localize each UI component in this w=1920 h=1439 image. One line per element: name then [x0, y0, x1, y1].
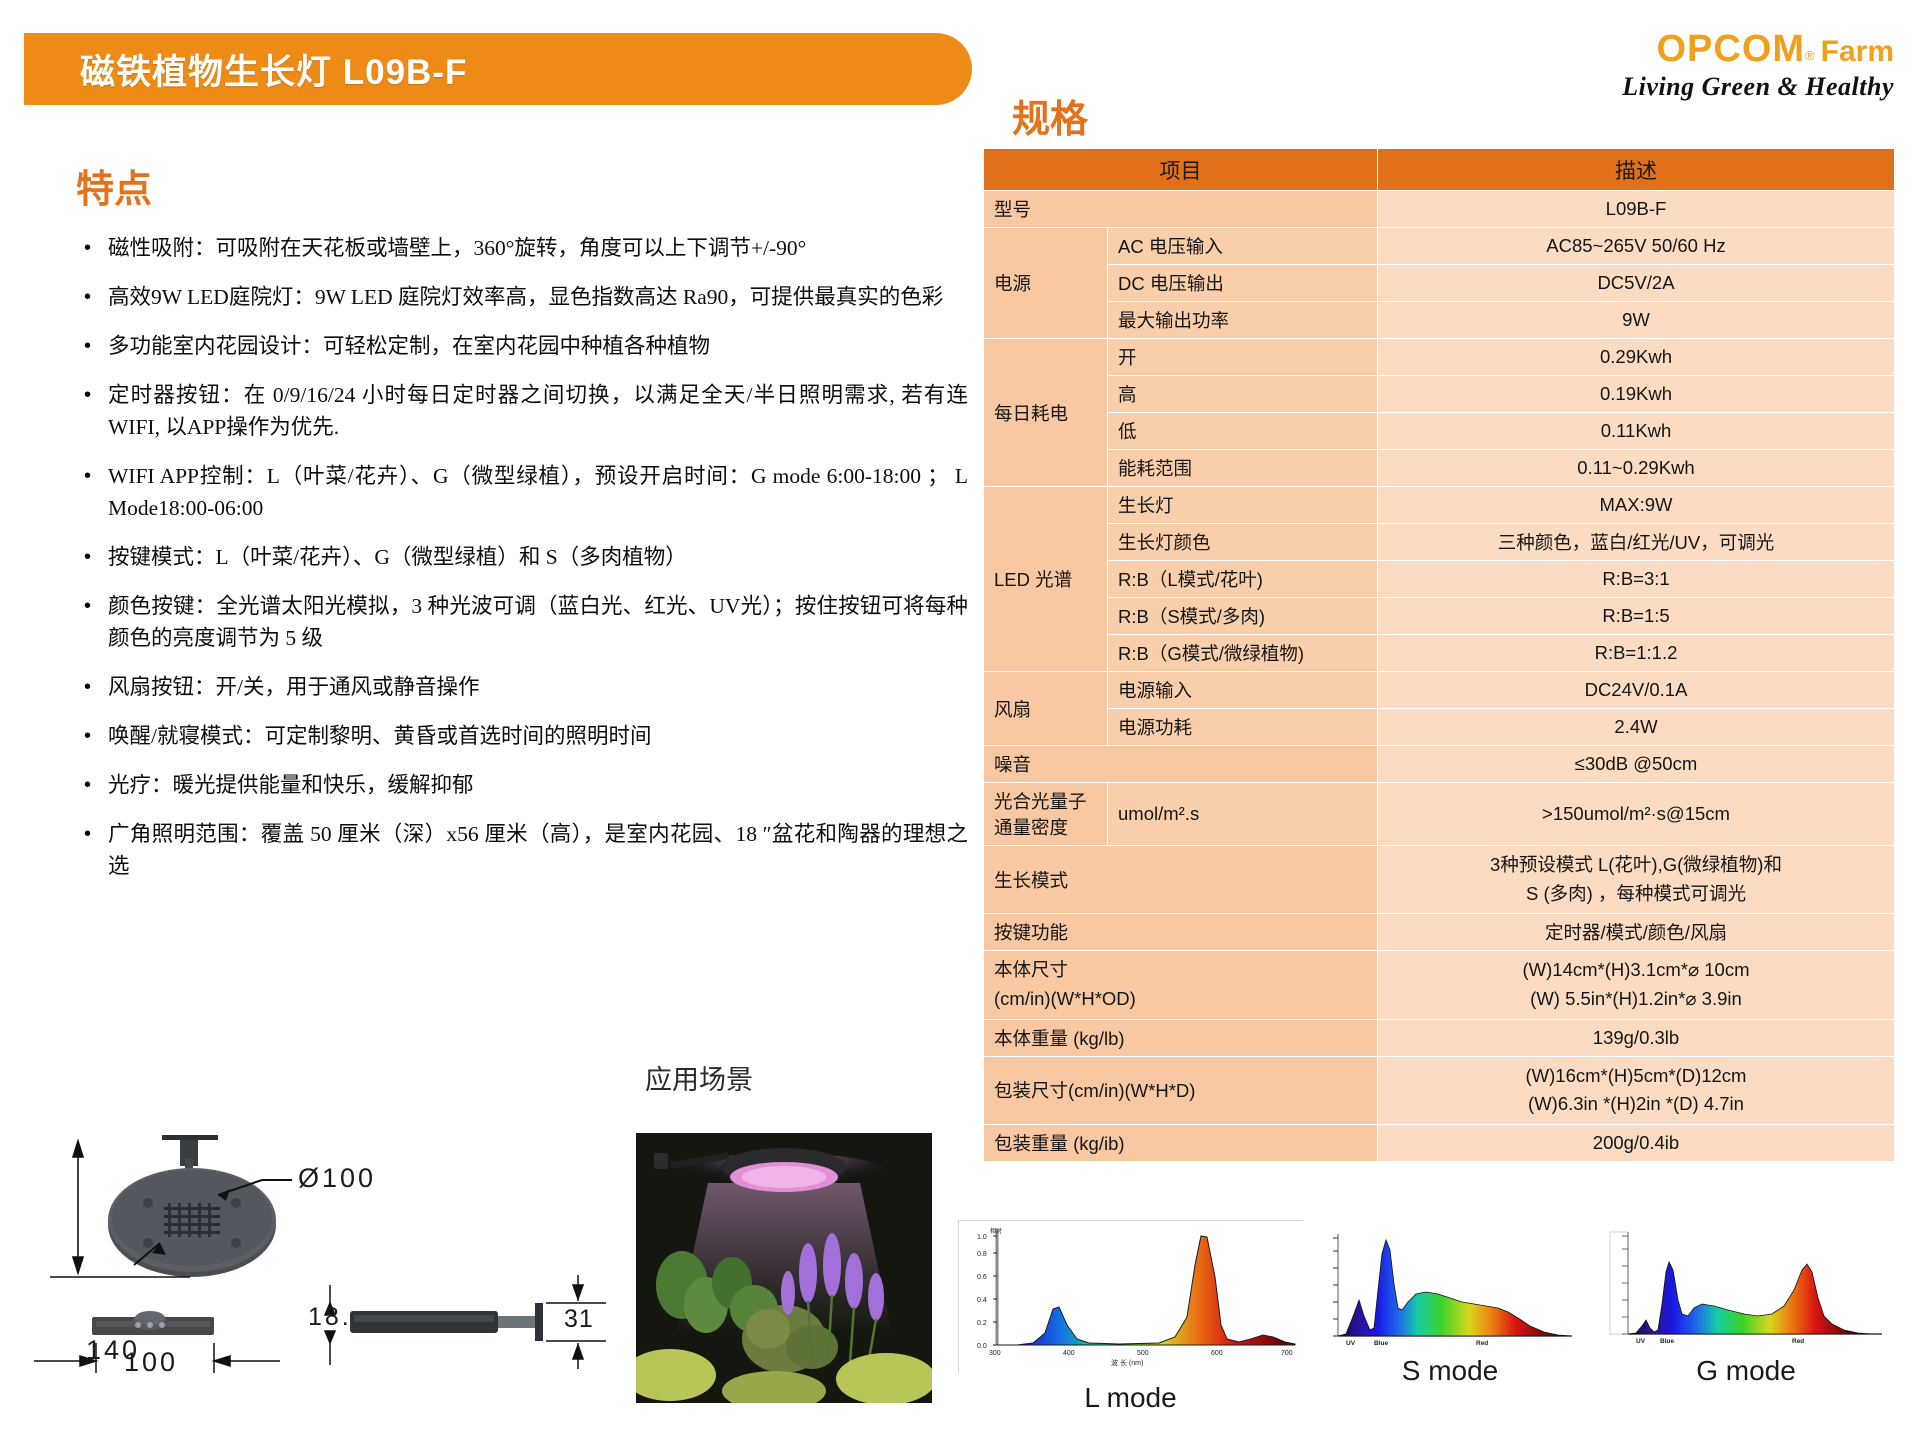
spec-value-cell: DC5V/2A [1378, 265, 1895, 302]
spec-value-cell: R:B=1:1.2 [1378, 635, 1895, 672]
feature-item-text: 广角照明范围：覆盖 50 厘米（深）x56 厘米（高），是室内花园、18 ″盆花… [108, 818, 968, 882]
spec-value-cell: 3种预设模式 L(花叶),G(微绿植物)和S (多肉) ，每种模式可调光 [1378, 846, 1895, 914]
spec-value-cell: MAX:9W [1378, 487, 1895, 524]
spectrum-chart-l-mode: 0.0 0.2 0.4 0.6 0.8 1.0 300 400 500 600 … [958, 1220, 1303, 1373]
table-header-row: 项目 描述 [984, 149, 1895, 191]
svg-text:500: 500 [1137, 1350, 1149, 1357]
spec-value-cell: 0.29Kwh [1378, 339, 1895, 376]
bullet-icon: • [78, 330, 108, 362]
table-row: 电源AC 电压输入AC85~265V 50/60 Hz [984, 228, 1895, 265]
spec-value-cell: 0.19Kwh [1378, 376, 1895, 413]
datasheet-page: 磁铁植物生长灯 L09B-F OPCOM®Farm Living Green &… [0, 0, 1920, 1439]
lamp-top-view [108, 1135, 292, 1277]
table-row: 生长模式3种预设模式 L(花叶),G(微绿植物)和S (多肉) ，每种模式可调光 [984, 846, 1895, 914]
feature-item: •风扇按钮：开/关，用于通风或静音操作 [78, 671, 968, 703]
spec-value-cell: 定时器/模式/颜色/风扇 [1378, 914, 1895, 951]
spec-sublabel-cell: 开 [1108, 339, 1378, 376]
application-scenario-heading: 应用场景 [645, 1058, 753, 1097]
spec-sublabel-cell: 电源功耗 [1108, 709, 1378, 746]
table-row: 电源功耗2.4W [984, 709, 1895, 746]
feature-item-text: 颜色按键：全光谱太阳光模拟，3 种光波可调（蓝白光、红光、UV光）；按住按钮可将… [108, 590, 968, 654]
spec-value-cell: (W)16cm*(H)5cm*(D)12cm(W)6.3in *(H)2in *… [1378, 1056, 1895, 1124]
table-row: 包装重量 (kg/ib)200g/0.4ib [984, 1125, 1895, 1162]
logo-opcom-text: OPCOM [1656, 28, 1805, 70]
spec-sublabel-cell: DC 电压输出 [1108, 265, 1378, 302]
table-row: 最大输出功率9W [984, 302, 1895, 339]
g-mode-chart-label: G mode [1596, 1355, 1896, 1387]
bullet-icon: • [78, 769, 108, 801]
logo-wordmark: OPCOM®Farm [1622, 28, 1894, 71]
spec-label-cell: 包装重量 (kg/ib) [984, 1125, 1378, 1162]
feature-item: •颜色按键：全光谱太阳光模拟，3 种光波可调（蓝白光、红光、UV光）；按住按钮可… [78, 590, 968, 654]
g-mode-plot: UV Blue Red [1596, 1228, 1896, 1358]
bullet-icon: • [78, 281, 108, 313]
column-header-description: 描述 [1378, 149, 1895, 191]
spectrum-chart-g-mode: UV Blue Red [1596, 1228, 1896, 1358]
logo-farm-text: Farm [1821, 35, 1894, 68]
svg-text:UV: UV [1346, 1340, 1356, 1347]
dimension-label-diameter: Ø100 [298, 1163, 376, 1194]
spec-sublabel-cell: 低 [1108, 413, 1378, 450]
spec-value-cell: >150umol/m²·s@15cm [1378, 783, 1895, 846]
feature-item-text: 光疗：暖光提供能量和快乐，缓解抑郁 [108, 769, 968, 801]
spec-label-cell: 风扇 [984, 672, 1108, 746]
svg-text:Blue: Blue [1660, 1338, 1674, 1345]
bullet-icon: • [78, 460, 108, 524]
bullet-icon: • [78, 818, 108, 882]
feature-item-text: WIFI APP控制：L（叶菜/花卉）、G（微型绿植），预设开启时间：G mod… [108, 460, 968, 524]
spec-label-cell: 生长模式 [984, 846, 1378, 914]
brand-logo: OPCOM®Farm Living Green & Healthy [1622, 28, 1894, 102]
feature-item: •光疗：暖光提供能量和快乐，缓解抑郁 [78, 769, 968, 801]
svg-text:0.0: 0.0 [977, 1343, 987, 1350]
svg-text:UV: UV [1636, 1338, 1646, 1345]
svg-text:700: 700 [1281, 1350, 1293, 1357]
spec-value-cell: 200g/0.4ib [1378, 1125, 1895, 1162]
spec-label-cell: 每日耗电 [984, 339, 1108, 487]
svg-text:0.2: 0.2 [977, 1320, 987, 1327]
spec-label-cell: 噪音 [984, 746, 1378, 783]
svg-text:1.0: 1.0 [977, 1234, 987, 1241]
feature-item: •定时器按钮：在 0/9/16/24 小时每日定时器之间切换，以满足全天/半日照… [78, 379, 968, 443]
table-row: 本体尺寸(cm/in)(W*H*OD)(W)14cm*(H)3.1cm*⌀ 10… [984, 951, 1895, 1019]
table-row: 低0.11Kwh [984, 413, 1895, 450]
feature-item-text: 高效9W LED庭院灯：9W LED 庭院灯效率高，显色指数高达 Ra90，可提… [108, 281, 968, 313]
spec-label-cell: LED 光谱 [984, 487, 1108, 672]
spec-label-cell: 本体尺寸(cm/in)(W*H*OD) [984, 951, 1378, 1019]
spec-value-cell: 2.4W [1378, 709, 1895, 746]
spec-value-cell: 0.11Kwh [1378, 413, 1895, 450]
feature-item: •高效9W LED庭院灯：9W LED 庭院灯效率高，显色指数高达 Ra90，可… [78, 281, 968, 313]
spec-value-cell: 139g/0.3lb [1378, 1019, 1895, 1056]
svg-text:波 长 (nm): 波 长 (nm) [1111, 1358, 1143, 1367]
table-row: 本体重量 (kg/lb)139g/0.3lb [984, 1019, 1895, 1056]
spec-value-cell: R:B=3:1 [1378, 561, 1895, 598]
specifications-table-body: 型号L09B-F电源AC 电压输入AC85~265V 50/60 HzDC 电压… [984, 191, 1895, 1162]
product-title-bar: 磁铁植物生长灯 L09B-F [24, 33, 972, 105]
features-list: •磁性吸附：可吸附在天花板或墙壁上，360°旋转，角度可以上下调节+/-90°•… [78, 232, 968, 899]
spec-value-cell: ≤30dB @50cm [1378, 746, 1895, 783]
spec-sublabel-cell: R:B（G模式/微绿植物) [1108, 635, 1378, 672]
column-header-item: 项目 [984, 149, 1378, 191]
svg-text:0.4: 0.4 [977, 1297, 987, 1304]
spec-value-cell: R:B=1:5 [1378, 598, 1895, 635]
application-scenario-photo [636, 1133, 932, 1403]
feature-item: •广角照明范围：覆盖 50 厘米（深）x56 厘米（高），是室内花园、18 ″盆… [78, 818, 968, 882]
table-row: LED 光谱生长灯MAX:9W [984, 487, 1895, 524]
table-row: 包装尺寸(cm/in)(W*H*D)(W)16cm*(H)5cm*(D)12cm… [984, 1056, 1895, 1124]
spec-sublabel-cell: 生长灯颜色 [1108, 524, 1378, 561]
spec-value-cell: L09B-F [1378, 191, 1895, 228]
l-mode-chart-label: L mode [958, 1382, 1303, 1414]
spec-sublabel-cell: R:B（L模式/花叶) [1108, 561, 1378, 598]
feature-item-text: 风扇按钮：开/关，用于通风或静音操作 [108, 671, 968, 703]
bullet-icon: • [78, 720, 108, 752]
svg-text:300: 300 [989, 1350, 1001, 1357]
spec-value-cell: DC24V/0.1A [1378, 672, 1895, 709]
specifications-heading: 规格 [1012, 88, 1088, 143]
spec-value-cell: (W)14cm*(H)3.1cm*⌀ 10cm(W) 5.5in*(H)1.2i… [1378, 951, 1895, 1019]
spec-label-cell: 电源 [984, 228, 1108, 339]
feature-item: •唤醒/就寝模式：可定制黎明、黄昏或首选时间的照明时间 [78, 720, 968, 752]
dimension-label-width: 100 [124, 1347, 178, 1378]
bullet-icon: • [78, 379, 108, 443]
bullet-icon: • [78, 232, 108, 264]
feature-item-text: 唤醒/就寝模式：可定制黎明、黄昏或首选时间的照明时间 [108, 720, 968, 752]
table-row: 型号L09B-F [984, 191, 1895, 228]
svg-text:Red: Red [1476, 1340, 1488, 1347]
technical-drawing: 140 Ø100 100 18. 31 [30, 1125, 630, 1425]
features-heading: 特点 [76, 158, 152, 213]
svg-text:600: 600 [1211, 1350, 1223, 1357]
mount-arm-view [350, 1303, 543, 1341]
spec-sublabel-cell: 生长灯 [1108, 487, 1378, 524]
spec-sublabel-cell: 电源输入 [1108, 672, 1378, 709]
spec-label-cell: 本体重量 (kg/lb) [984, 1019, 1378, 1056]
registered-mark-icon: ® [1805, 48, 1815, 63]
feature-item-text: 多功能室内花园设计：可轻松定制，在室内花园中种植各种植物 [108, 330, 968, 362]
lamp-side-view [92, 1311, 214, 1335]
table-row: R:B（L模式/花叶)R:B=3:1 [984, 561, 1895, 598]
spec-sublabel-cell: umol/m².s [1108, 783, 1378, 846]
feature-item: •多功能室内花园设计：可轻松定制，在室内花园中种植各种植物 [78, 330, 968, 362]
spec-label-cell: 按键功能 [984, 914, 1378, 951]
spec-sublabel-cell: AC 电压输入 [1108, 228, 1378, 265]
feature-item: •WIFI APP控制：L（叶菜/花卉）、G（微型绿植），预设开启时间：G mo… [78, 460, 968, 524]
feature-item: •按键模式：L（叶菜/花卉）、G（微型绿植）和 S（多肉植物） [78, 541, 968, 573]
table-row: 光合光量子通量密度umol/m².s>150umol/m²·s@15cm [984, 783, 1895, 846]
bullet-icon: • [78, 541, 108, 573]
spec-sublabel-cell: 能耗范围 [1108, 450, 1378, 487]
spec-label-cell: 光合光量子通量密度 [984, 783, 1108, 846]
table-row: R:B（S模式/多肉)R:B=1:5 [984, 598, 1895, 635]
feature-item-text: 磁性吸附：可吸附在天花板或墙壁上，360°旋转，角度可以上下调节+/-90° [108, 232, 968, 264]
l-mode-plot: 0.0 0.2 0.4 0.6 0.8 1.0 300 400 500 600 … [959, 1221, 1304, 1374]
table-row: R:B（G模式/微绿植物)R:B=1:1.2 [984, 635, 1895, 672]
spec-value-cell: 三种颜色，蓝白/红光/UV，可调光 [1378, 524, 1895, 561]
svg-text:400: 400 [1063, 1350, 1075, 1357]
specifications-table: 项目 描述 型号L09B-F电源AC 电压输入AC85~265V 50/60 H… [983, 148, 1895, 1162]
table-row: 能耗范围0.11~0.29Kwh [984, 450, 1895, 487]
table-row: 每日耗电开0.29Kwh [984, 339, 1895, 376]
svg-text:Blue: Blue [1374, 1340, 1388, 1347]
spec-sublabel-cell: 高 [1108, 376, 1378, 413]
table-row: 高0.19Kwh [984, 376, 1895, 413]
spec-value-cell: 0.11~0.29Kwh [1378, 450, 1895, 487]
table-row: 噪音≤30dB @50cm [984, 746, 1895, 783]
spec-sublabel-cell: R:B（S模式/多肉) [1108, 598, 1378, 635]
table-row: DC 电压输出DC5V/2A [984, 265, 1895, 302]
svg-text:0.8: 0.8 [977, 1251, 987, 1258]
page-title: 磁铁植物生长灯 L09B-F [80, 44, 467, 95]
spectrum-chart-s-mode: UV Blue Red [1316, 1228, 1584, 1358]
dimension-label-thickness: 18. [308, 1303, 352, 1332]
svg-text:相对: 相对 [990, 1227, 1002, 1235]
svg-text:Red: Red [1792, 1338, 1804, 1345]
spec-label-cell: 型号 [984, 191, 1378, 228]
dimension-label-depth: 31 [564, 1305, 594, 1334]
table-row: 风扇电源输入DC24V/0.1A [984, 672, 1895, 709]
spec-sublabel-cell: 最大输出功率 [1108, 302, 1378, 339]
spec-label-cell: 包装尺寸(cm/in)(W*H*D) [984, 1056, 1378, 1124]
s-mode-chart-label: S mode [1300, 1355, 1600, 1387]
bullet-icon: • [78, 590, 108, 654]
table-row: 按键功能定时器/模式/颜色/风扇 [984, 914, 1895, 951]
bullet-icon: • [78, 671, 108, 703]
spec-value-cell: AC85~265V 50/60 Hz [1378, 228, 1895, 265]
feature-item-text: 按键模式：L（叶菜/花卉）、G（微型绿植）和 S（多肉植物） [108, 541, 968, 573]
spec-value-cell: 9W [1378, 302, 1895, 339]
svg-text:0.6: 0.6 [977, 1274, 987, 1281]
feature-item: •磁性吸附：可吸附在天花板或墙壁上，360°旋转，角度可以上下调节+/-90° [78, 232, 968, 264]
s-mode-plot: UV Blue Red [1316, 1228, 1584, 1358]
feature-item-text: 定时器按钮：在 0/9/16/24 小时每日定时器之间切换，以满足全天/半日照明… [108, 379, 968, 443]
logo-tagline: Living Green & Healthy [1622, 72, 1894, 102]
scene-illustration [636, 1133, 932, 1403]
table-row: 生长灯颜色三种颜色，蓝白/红光/UV，可调光 [984, 524, 1895, 561]
